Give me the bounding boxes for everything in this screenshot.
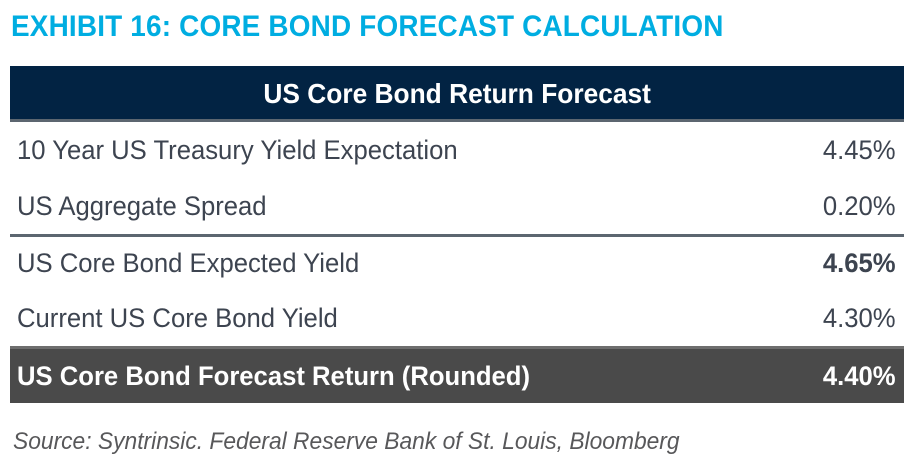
total-row-value: 4.40% [823, 361, 896, 392]
core-bond-forecast-table: US Core Bond Return Forecast 10 Year US … [10, 66, 904, 403]
row-value: 0.20% [823, 191, 896, 222]
row-label: US Core Bond Expected Yield [17, 248, 359, 279]
table-total-row: US Core Bond Forecast Return (Rounded) 4… [10, 346, 904, 403]
row-label: 10 Year US Treasury Yield Expectation [17, 135, 458, 166]
source-note: Source: Syntrinsic. Federal Reserve Bank… [13, 428, 680, 456]
row-label: Current US Core Bond Yield [17, 303, 338, 334]
table-row: Current US Core Bond Yield 4.30% [10, 290, 904, 346]
table-row: 10 Year US Treasury Yield Expectation 4.… [10, 122, 904, 178]
total-row-label: US Core Bond Forecast Return (Rounded) [17, 361, 530, 392]
table-row: US Core Bond Expected Yield 4.65% [10, 234, 904, 290]
row-value: 4.30% [823, 303, 896, 334]
exhibit-title: EXHIBIT 16: CORE BOND FORECAST CALCULATI… [11, 6, 839, 48]
row-value: 4.45% [823, 135, 896, 166]
table-header-label: US Core Bond Return Forecast [263, 66, 651, 122]
table-row: US Aggregate Spread 0.20% [10, 178, 904, 234]
row-label: US Aggregate Spread [17, 191, 267, 222]
exhibit-page: EXHIBIT 16: CORE BOND FORECAST CALCULATI… [0, 0, 922, 468]
table-header: US Core Bond Return Forecast [10, 66, 904, 122]
row-value: 4.65% [823, 248, 896, 279]
